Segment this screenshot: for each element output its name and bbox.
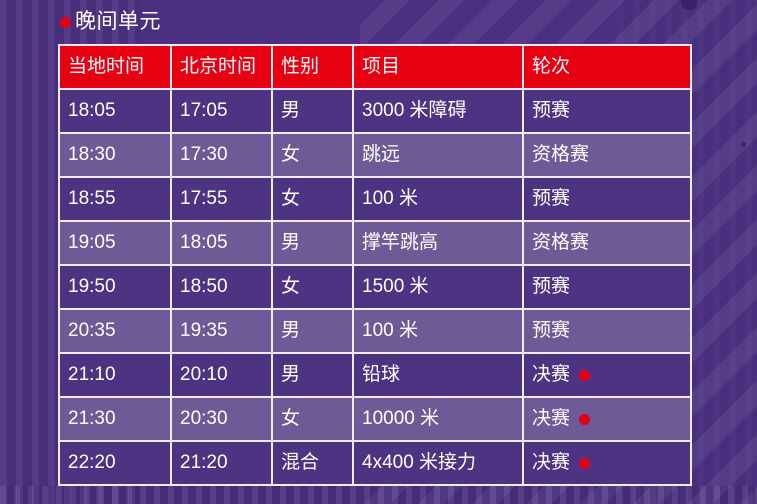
cell-event: 撑竿跳高 — [353, 221, 523, 265]
round-label: 资格赛 — [532, 232, 589, 254]
cell-round: 预赛 — [523, 177, 691, 221]
cell-beijing-time: 18:50 — [171, 265, 272, 309]
final-marker-dot-icon — [579, 414, 590, 425]
schedule-poster: 晚间单元 当地时间 北京时间 性别 项目 轮次 18:0517:05男3000 … — [0, 0, 757, 504]
cell-event: 100 米 — [353, 177, 523, 221]
column-header-event: 项目 — [353, 45, 523, 89]
page-title: 晚间单元 — [60, 7, 161, 37]
cell-event: 1500 米 — [353, 265, 523, 309]
round-label: 决赛 — [532, 452, 570, 474]
round-label: 资格赛 — [532, 144, 589, 166]
cell-beijing-time: 17:55 — [171, 177, 272, 221]
table-row: 22:2021:20混合4x400 米接力决赛 — [59, 441, 691, 485]
decorative-small-dot-icon — [741, 142, 746, 147]
cell-round: 资格赛 — [523, 133, 691, 177]
cell-local-time: 19:05 — [59, 221, 171, 265]
cell-round: 预赛 — [523, 89, 691, 133]
round-label: 预赛 — [532, 276, 570, 298]
cell-round: 预赛 — [523, 309, 691, 353]
cell-gender: 女 — [272, 133, 353, 177]
final-marker-dot-icon — [579, 458, 590, 469]
cell-round: 资格赛 — [523, 221, 691, 265]
table-row: 18:0517:05男3000 米障碍预赛 — [59, 89, 691, 133]
cell-round: 预赛 — [523, 265, 691, 309]
cell-local-time: 21:10 — [59, 353, 171, 397]
cell-beijing-time: 17:05 — [171, 89, 272, 133]
cell-gender: 女 — [272, 397, 353, 441]
cell-gender: 男 — [272, 89, 353, 133]
cell-beijing-time: 18:05 — [171, 221, 272, 265]
table-header-row: 当地时间 北京时间 性别 项目 轮次 — [59, 45, 691, 89]
schedule-table: 当地时间 北京时间 性别 项目 轮次 18:0517:05男3000 米障碍预赛… — [58, 44, 692, 486]
background-bottom-stripes — [0, 486, 757, 504]
cell-local-time: 20:35 — [59, 309, 171, 353]
cell-event: 跳远 — [353, 133, 523, 177]
cell-gender: 男 — [272, 221, 353, 265]
cell-round: 决赛 — [523, 441, 691, 485]
column-header-beijing-time: 北京时间 — [171, 45, 272, 89]
table-header: 当地时间 北京时间 性别 项目 轮次 — [59, 45, 691, 89]
red-dot-icon — [60, 17, 71, 28]
cell-round: 决赛 — [523, 397, 691, 441]
cell-gender: 男 — [272, 309, 353, 353]
table-body: 18:0517:05男3000 米障碍预赛18:3017:30女跳远资格赛18:… — [59, 89, 691, 485]
table-row: 21:3020:30女10000 米决赛 — [59, 397, 691, 441]
final-marker-dot-icon — [579, 370, 590, 381]
round-label: 预赛 — [532, 100, 570, 122]
table-row: 20:3519:35男100 米预赛 — [59, 309, 691, 353]
page-title-label: 晚间单元 — [75, 10, 161, 34]
table-row: 19:5018:50女1500 米预赛 — [59, 265, 691, 309]
table-row: 21:1020:10男铅球决赛 — [59, 353, 691, 397]
column-header-local-time: 当地时间 — [59, 45, 171, 89]
cell-event: 100 米 — [353, 309, 523, 353]
cell-local-time: 19:50 — [59, 265, 171, 309]
cell-gender: 男 — [272, 353, 353, 397]
cell-local-time: 18:55 — [59, 177, 171, 221]
cell-gender: 混合 — [272, 441, 353, 485]
round-label: 预赛 — [532, 188, 570, 210]
cell-beijing-time: 17:30 — [171, 133, 272, 177]
column-header-round: 轮次 — [523, 45, 691, 89]
cell-event: 4x400 米接力 — [353, 441, 523, 485]
table-row: 18:5517:55女100 米预赛 — [59, 177, 691, 221]
cell-event: 3000 米障碍 — [353, 89, 523, 133]
table-row: 18:3017:30女跳远资格赛 — [59, 133, 691, 177]
cell-local-time: 18:30 — [59, 133, 171, 177]
cell-beijing-time: 20:30 — [171, 397, 272, 441]
cell-beijing-time: 19:35 — [171, 309, 272, 353]
column-header-gender: 性别 — [272, 45, 353, 89]
round-label: 决赛 — [532, 408, 570, 430]
cell-gender: 女 — [272, 177, 353, 221]
cell-beijing-time: 20:10 — [171, 353, 272, 397]
cell-local-time: 22:20 — [59, 441, 171, 485]
round-label: 预赛 — [532, 320, 570, 342]
table-row: 19:0518:05男撑竿跳高资格赛 — [59, 221, 691, 265]
cell-local-time: 21:30 — [59, 397, 171, 441]
cell-event: 铅球 — [353, 353, 523, 397]
cell-local-time: 18:05 — [59, 89, 171, 133]
cell-event: 10000 米 — [353, 397, 523, 441]
cell-gender: 女 — [272, 265, 353, 309]
round-label: 决赛 — [532, 364, 570, 386]
cell-round: 决赛 — [523, 353, 691, 397]
cell-beijing-time: 21:20 — [171, 441, 272, 485]
